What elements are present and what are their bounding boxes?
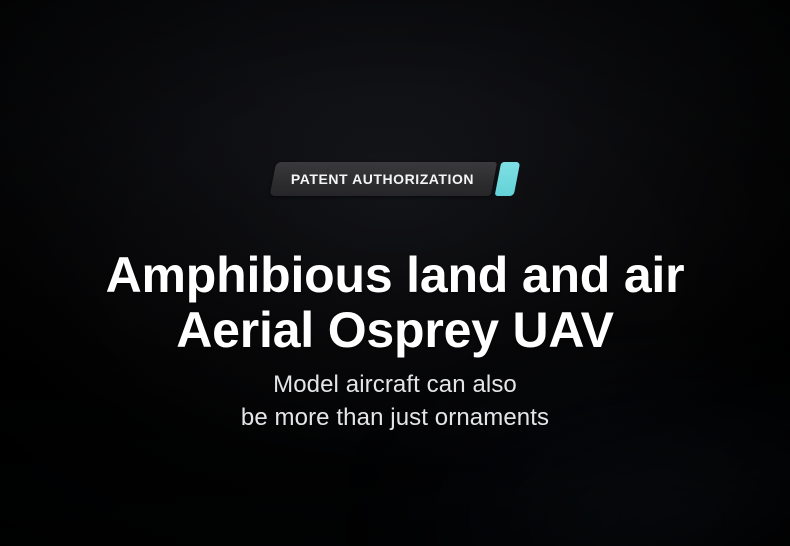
promo-banner: PATENT AUTHORIZATION Amphibious land and… <box>0 0 790 546</box>
page-title: Amphibious land and air Aerial Osprey UA… <box>0 248 790 359</box>
banner-content: PATENT AUTHORIZATION Amphibious land and… <box>0 0 790 546</box>
page-subtitle: Model aircraft can also be more than jus… <box>0 369 790 434</box>
subtitle-line-1: Model aircraft can also <box>0 369 790 402</box>
patent-authorization-badge: PATENT AUTHORIZATION <box>273 162 517 196</box>
badge-plate: PATENT AUTHORIZATION <box>270 162 498 196</box>
headline-line-1: Amphibious land and air <box>0 248 790 304</box>
subtitle-line-2: be more than just ornaments <box>0 402 790 435</box>
badge-label: PATENT AUTHORIZATION <box>291 172 474 186</box>
badge-accent-shape <box>495 162 521 196</box>
headline-line-2: Aerial Osprey UAV <box>0 303 790 359</box>
